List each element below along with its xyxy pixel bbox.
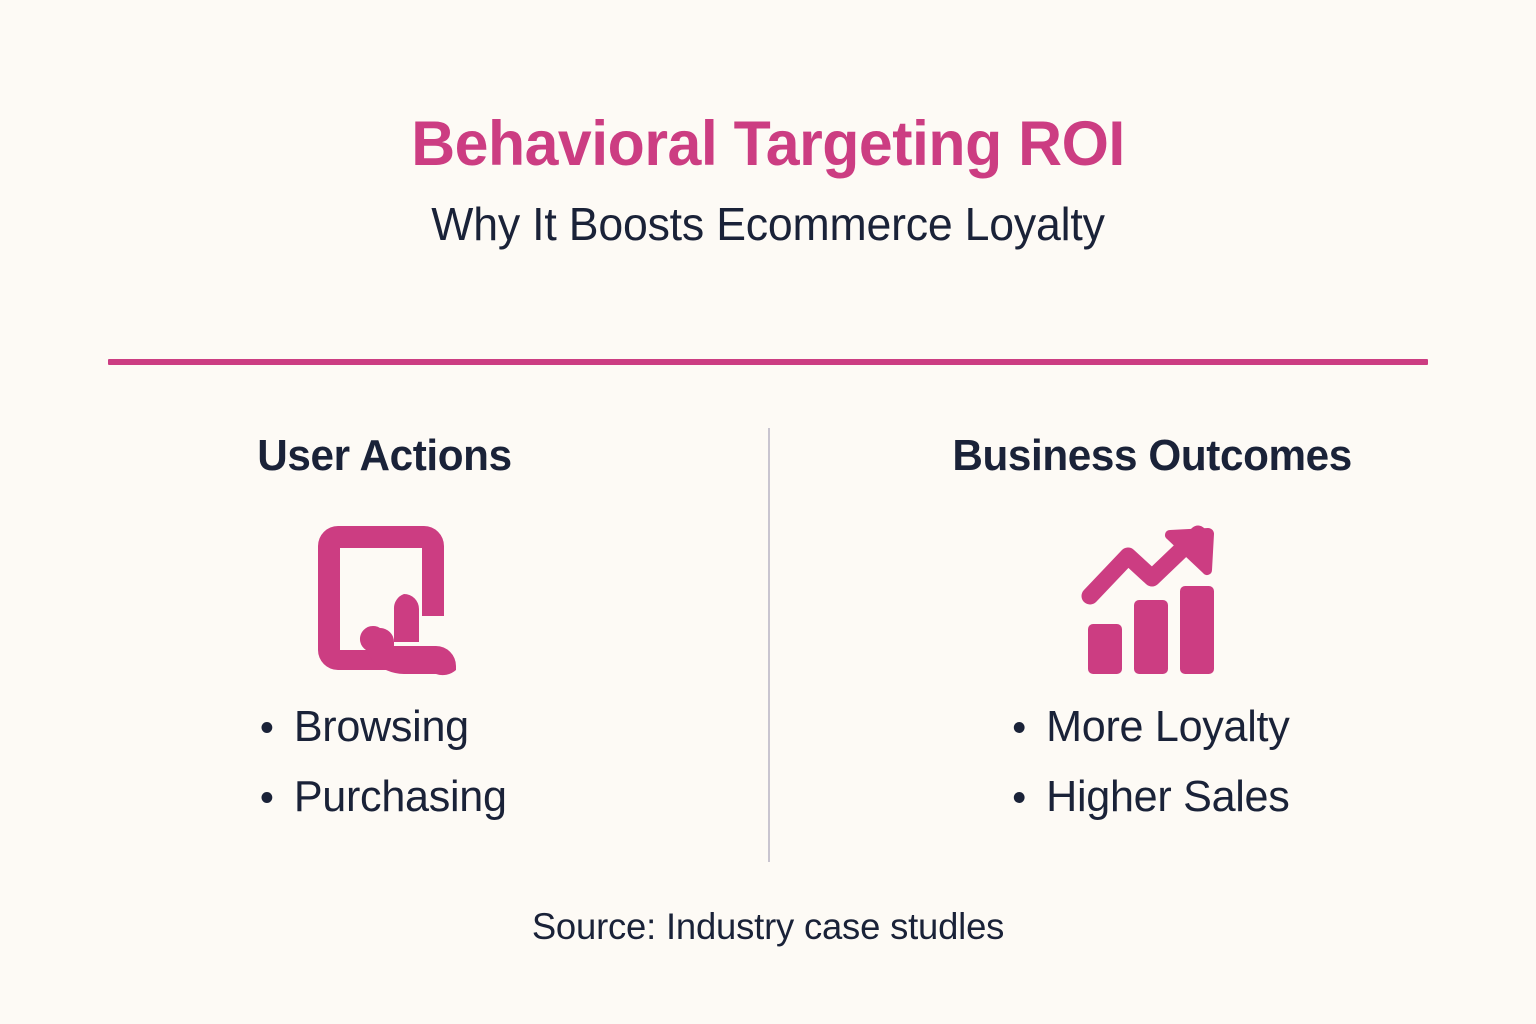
bullet-dot-icon — [1014, 722, 1025, 733]
bullet-label: Purchasing — [294, 775, 507, 819]
infographic-poster: Behavioral Targeting ROI Why It Boosts E… — [0, 0, 1536, 1024]
bullet-label: Higher Sales — [1046, 775, 1289, 819]
list-item: Higher Sales — [1014, 775, 1290, 819]
columns-container: User Actions Browsing Pu — [0, 420, 1536, 890]
bullet-dot-icon — [1014, 792, 1025, 803]
column-user-actions: User Actions Browsing Pu — [0, 420, 768, 890]
bullet-list-user-actions: Browsing Purchasing — [259, 705, 509, 845]
tap-click-icon — [308, 512, 460, 687]
list-item: Purchasing — [261, 775, 506, 819]
poster-header: Behavioral Targeting ROI Why It Boosts E… — [0, 0, 1536, 249]
bullet-label: More Loyalty — [1046, 705, 1289, 749]
page-subtitle: Why It Boosts Ecommerce Loyalty — [23, 176, 1513, 248]
bullet-dot-icon — [261, 722, 272, 733]
accent-rule-divider — [108, 359, 1428, 365]
bullet-list-business-outcomes: More Loyalty Higher Sales — [1011, 705, 1292, 845]
column-business-outcomes: Business Outcomes More Loyalty — [768, 420, 1536, 890]
page-title: Behavioral Targeting ROI — [27, 0, 1509, 176]
list-item: More Loyalty — [1014, 705, 1290, 749]
column-heading-user-actions: User Actions — [257, 420, 511, 478]
column-heading-business-outcomes: Business Outcomes — [952, 420, 1352, 478]
source-caption: Source: Industry case studles — [12, 906, 1525, 948]
growth-bar-chart-icon — [1076, 512, 1228, 687]
bullet-dot-icon — [261, 792, 272, 803]
list-item: Browsing — [261, 705, 506, 749]
bullet-label: Browsing — [294, 705, 469, 749]
